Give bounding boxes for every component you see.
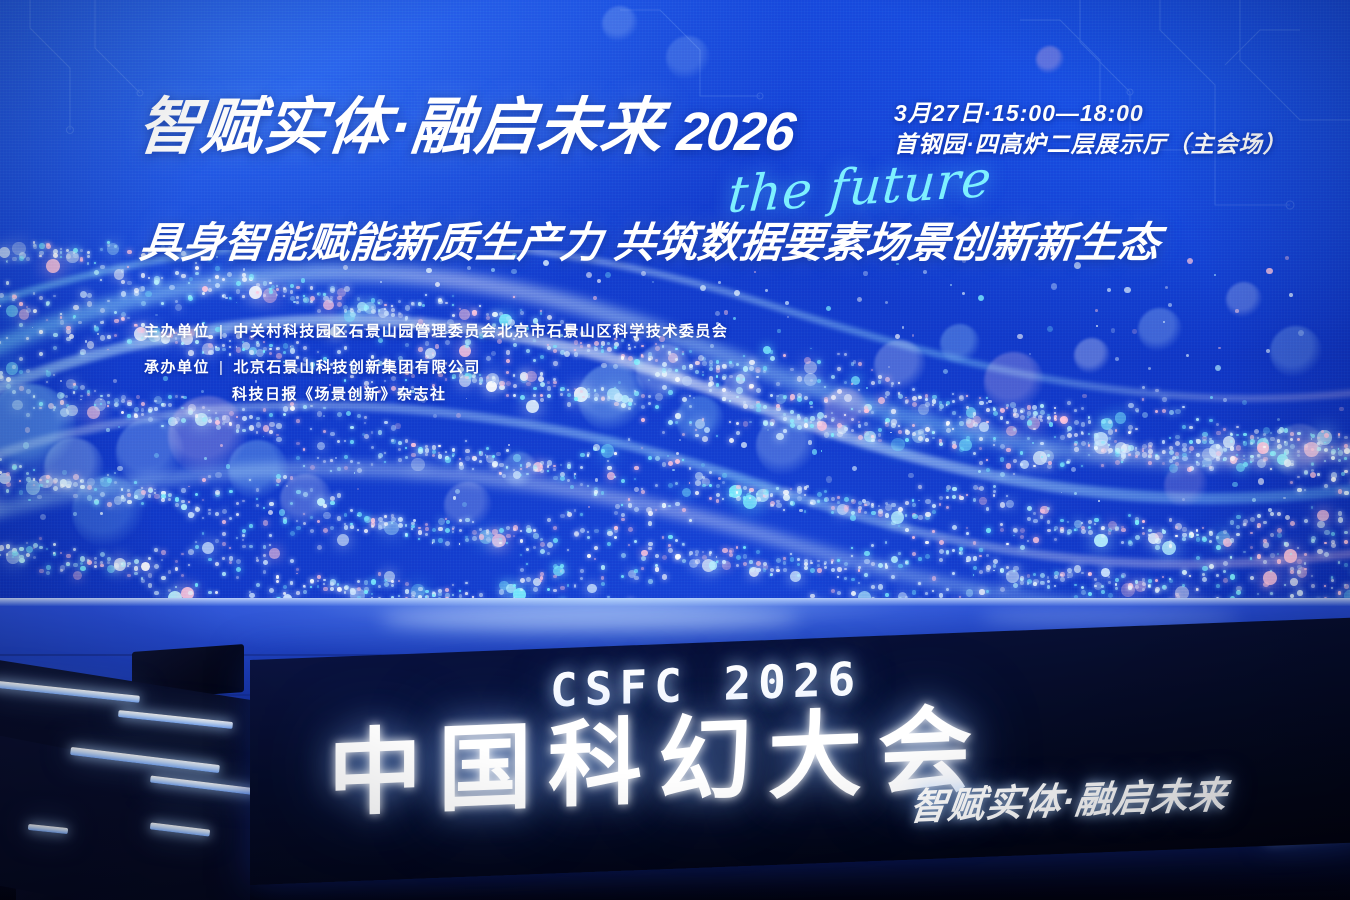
headline-slogan: 智赋实体·融启未来	[135, 96, 667, 160]
led-backdrop-screen: 智赋实体·融启未来 2026 3月27日·15:00—18:00 首钢园·四高炉…	[0, 0, 1350, 600]
organizer-row: 承办单位|北京石景山科技创新集团有限公司	[144, 354, 728, 381]
organizer-value: 科技日报《场景创新》杂志社	[232, 386, 447, 403]
headline-year: 2026	[673, 102, 798, 162]
organizer-row: 科技日报《场景创新》杂志社	[144, 381, 728, 408]
event-datetime: 3月27日·15:00—18:00	[894, 98, 1287, 128]
organizer-block: 主办单位|中关村科技园区石景山园管理委员会北京市石景山区科学技术委员会 承办单位…	[144, 318, 728, 408]
organizer-label: 承办单位	[144, 359, 210, 376]
organizer-separator: |	[210, 354, 233, 381]
backdrop-subtitle: 具身智能赋能新质生产力 共筑数据要素场景创新新生态	[137, 218, 1162, 268]
event-stage-photo: 智赋实体·融启未来 2026 3月27日·15:00—18:00 首钢园·四高炉…	[0, 0, 1350, 900]
stage-front-banner: CSFC 2026 中国科幻大会 智赋实体·融启未来	[250, 617, 1350, 885]
organizer-row: 主办单位|中关村科技园区石景山园管理委员会北京市石景山区科学技术委员会	[144, 318, 728, 345]
organizer-separator: |	[210, 318, 233, 345]
backdrop-headline-group: 智赋实体·融启未来 2026	[138, 96, 794, 162]
organizer-value: 北京石景山科技创新集团有限公司	[233, 359, 481, 376]
led-scanline-texture	[0, 0, 1350, 600]
banner-conference-name: 中国科幻大会	[328, 698, 988, 827]
organizer-value: 中关村科技园区石景山园管理委员会北京市石景山区科学技术委员会	[233, 323, 728, 340]
floor-light-reflection	[380, 606, 800, 632]
event-when-where: 3月27日·15:00—18:00 首钢园·四高炉二层展示厅（主会场）	[894, 98, 1287, 160]
organizer-label: 主办单位	[144, 323, 210, 340]
